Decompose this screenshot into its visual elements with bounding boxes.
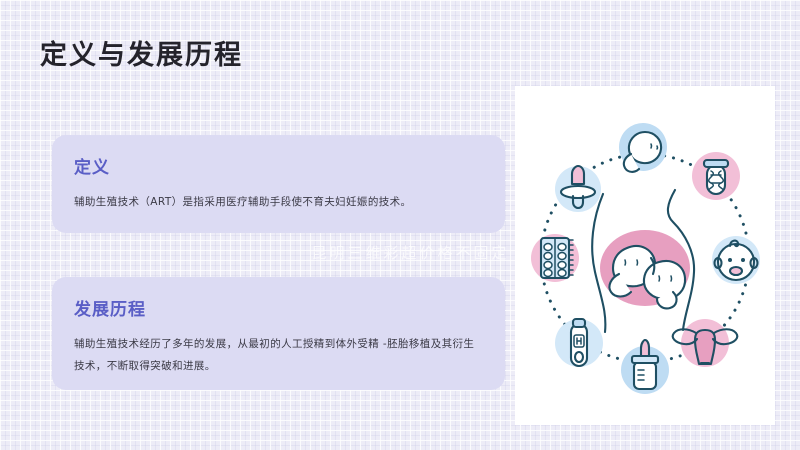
pregnant-belly-with-twins xyxy=(592,190,694,332)
pacifier-icon xyxy=(555,166,601,212)
pill-blister-icon xyxy=(531,234,579,282)
fetus-icon xyxy=(619,123,667,172)
baby-face-icon xyxy=(712,236,760,284)
pregnancy-test-icon xyxy=(555,319,603,367)
dna-test-tube-icon xyxy=(692,152,740,200)
card-history: 发展历程 辅助生殖技术经历了多年的发展，从最初的人工授精到体外受精 -胚胎移植及… xyxy=(52,277,505,390)
page-title: 定义与发展历程 xyxy=(40,33,243,72)
card-definition: 定义 辅助生殖技术（ART）是指采用医疗辅助手段使不育夫妇妊娠的技术。 xyxy=(52,135,505,233)
assisted-reproduction-infographic: .ol { fill:none; stroke:#1f4f63; stroke-… xyxy=(515,86,775,425)
uterus-icon xyxy=(673,319,738,367)
baby-bottle-icon xyxy=(621,340,669,394)
card-history-body: 辅助生殖技术经历了多年的发展，从最初的人工授精到体外受精 -胚胎移植及其衍生技术… xyxy=(74,333,483,377)
card-definition-heading: 定义 xyxy=(74,153,483,178)
card-definition-body: 辅助生殖技术（ART）是指采用医疗辅助手段使不育夫妇妊娠的技术。 xyxy=(74,191,483,213)
illustration-panel: .ol { fill:none; stroke:#1f4f63; stroke-… xyxy=(515,86,775,425)
card-history-heading: 发展历程 xyxy=(74,295,483,320)
